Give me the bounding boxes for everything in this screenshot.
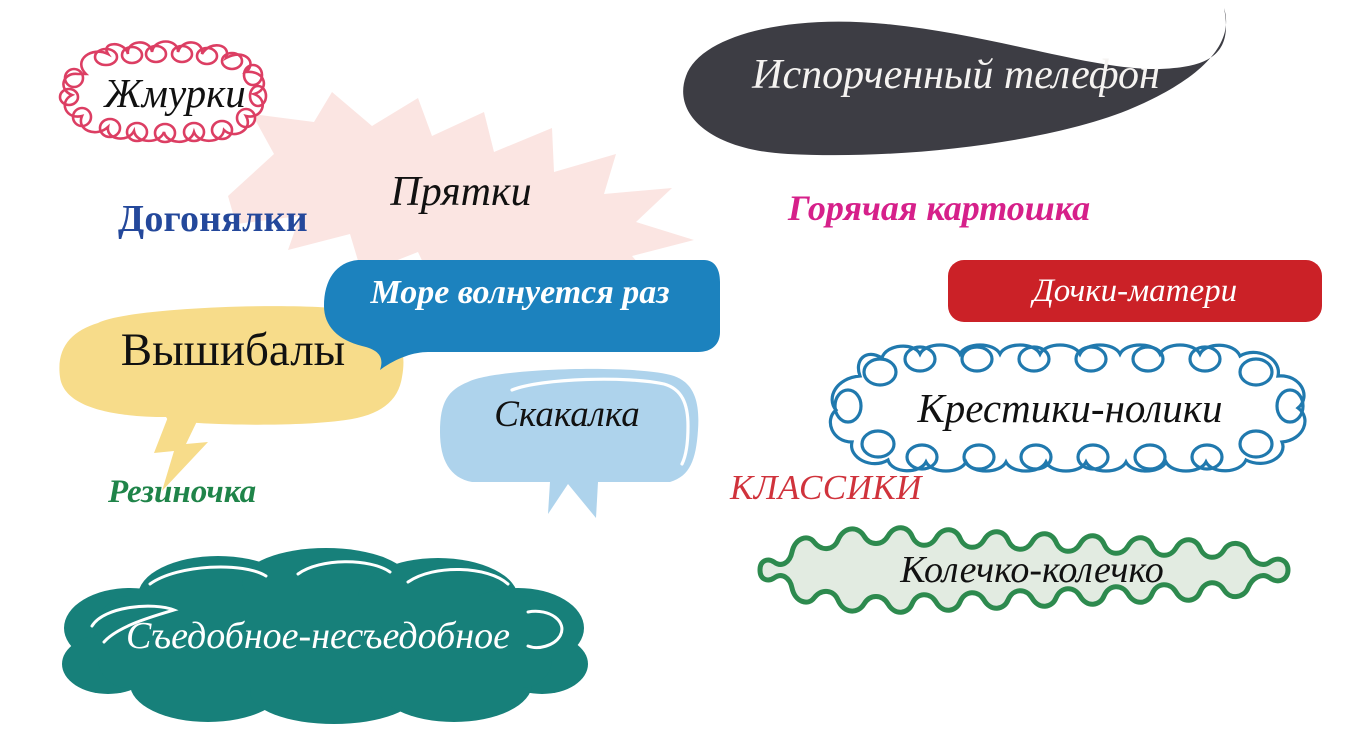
word-cloud-canvas: Прятки (0, 0, 1352, 738)
word-item-dochki[interactable]: Дочки-матери (948, 260, 1322, 322)
word-item-skakalka[interactable]: Скакалка (438, 368, 704, 534)
word-item-sedobnoe-label: Съедобное-несъедобное (58, 548, 578, 724)
word-item-sedobnoe[interactable]: Съедобное-несъедобное (58, 548, 592, 724)
word-item-rezinochka-label: Резиночка (108, 476, 256, 509)
word-item-kolechko-label: Колечко-колечко (792, 518, 1272, 622)
word-item-kolechko[interactable]: Колечко-колечко (752, 518, 1304, 622)
word-item-krestiki[interactable]: Крестики-нолики (820, 342, 1320, 474)
word-item-telefon[interactable]: Испорченный телефон (676, 2, 1240, 158)
word-item-skakalka-label: Скакалка (438, 396, 696, 433)
word-item-dogonyalki-label: Догонялки (118, 200, 308, 238)
word-item-kartoshka-label: Горячая картошка (788, 190, 1090, 226)
word-item-zhmurki[interactable]: Жмурки (52, 44, 298, 142)
word-item-dogonyalki[interactable]: Догонялки (118, 200, 308, 238)
lightblue-bubble-shape (438, 368, 704, 534)
word-item-more[interactable]: Море волнуется раз (318, 258, 720, 370)
word-item-krestiki-label: Крестики-нолики (820, 342, 1320, 474)
word-item-klassiki-label: КЛАССИКИ (730, 470, 922, 505)
word-item-rezinochka[interactable]: Резиночка (108, 476, 256, 509)
word-item-more-label: Море волнуется раз (342, 276, 698, 310)
word-item-dochki-label: Дочки-матери (948, 260, 1322, 322)
word-item-zhmurki-label: Жмурки (52, 44, 298, 142)
word-item-kartoshka[interactable]: Горячая картошка (788, 190, 1090, 226)
word-item-klassiki[interactable]: КЛАССИКИ (730, 470, 922, 505)
word-item-telefon-label: Испорченный телефон (716, 54, 1196, 96)
